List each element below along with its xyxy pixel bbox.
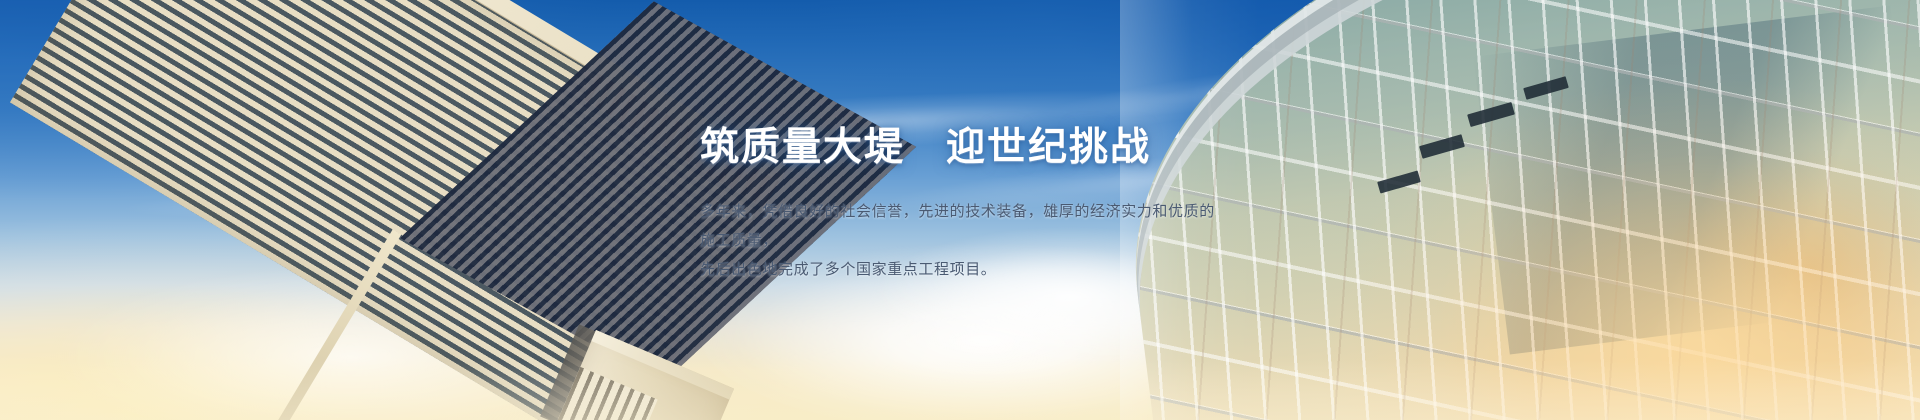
banner-copy-block: 筑质量大堤 迎世纪挑战 多年来，凭借良好的社会信誉，先进的技术装备，雄厚的经济实…: [700, 126, 1220, 284]
banner-subtitle-line: 多年来，凭借良好的社会信誉，先进的技术装备，雄厚的经济实力和优质的施工质量，: [700, 197, 1220, 255]
banner-subtitle-line: 先后出色地完成了多个国家重点工程项目。: [700, 255, 1220, 284]
hero-banner: 筑质量大堤 迎世纪挑战 多年来，凭借良好的社会信誉，先进的技术装备，雄厚的经济实…: [0, 0, 1920, 420]
facade-parapet-cornice: [1120, 0, 1920, 420]
banner-subtitle: 多年来，凭借良好的社会信誉，先进的技术装备，雄厚的经济实力和优质的施工质量， 先…: [700, 197, 1220, 284]
right-curved-glass-building: [1120, 0, 1920, 420]
banner-headline: 筑质量大堤 迎世纪挑战: [700, 126, 1220, 171]
